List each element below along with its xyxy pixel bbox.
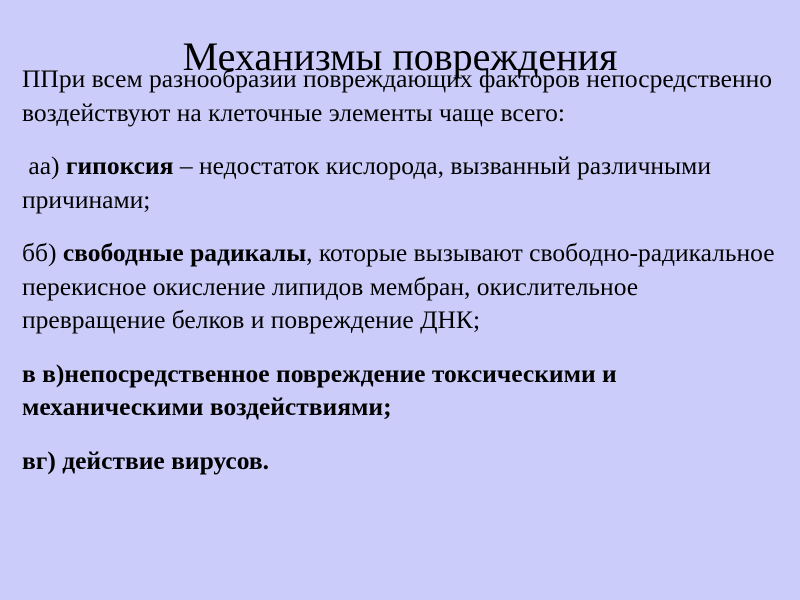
item-b-marker: бб)	[22, 238, 63, 267]
paragraph-item-a: аа) гипоксия – недостаток кислорода, выз…	[22, 149, 782, 216]
item-b-term: свободные радикалы	[63, 238, 306, 267]
paragraph-item-b: бб) свободные радикалы, которые вызывают…	[22, 236, 782, 337]
slide-body: ППри всем разнообразии повреждающих факт…	[22, 62, 782, 477]
paragraph-intro: ППри всем разнообразии повреждающих факт…	[22, 62, 782, 129]
item-a-marker: аа)	[22, 151, 66, 180]
slide-canvas: Механизмы повреждения ППри всем разнообр…	[0, 0, 800, 600]
paragraph-item-v: в в)непосредственное повреждение токсиче…	[22, 357, 782, 424]
paragraph-item-g: вг) действие вирусов.	[22, 444, 782, 478]
item-a-term: гипоксия	[66, 151, 174, 180]
